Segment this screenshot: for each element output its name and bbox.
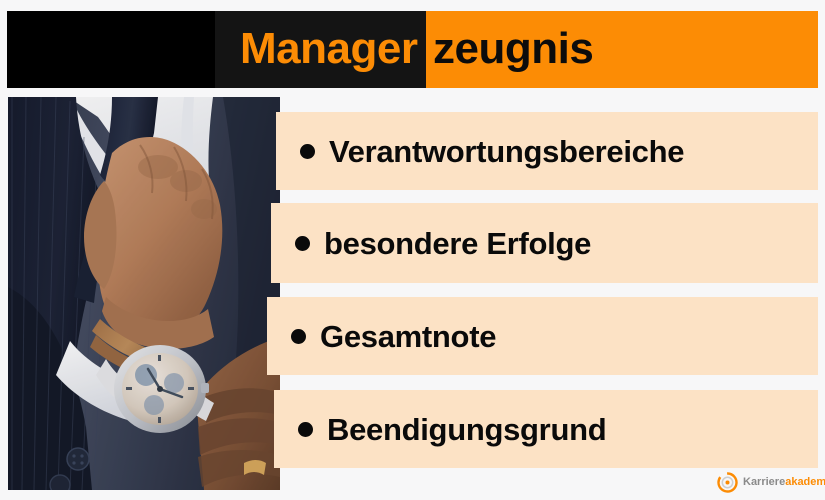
bullet-item-4-label: Beendigungsgrund [327,414,606,445]
slide-canvas: Manager zeugnis [0,0,825,500]
page-title: Manager zeugnis [7,11,818,88]
bullet-item-4[interactable]: Beendigungsgrund [274,390,818,468]
bullet-item-2-label: besondere Erfolge [324,228,591,259]
brand-name-part-1: Karriere [743,476,785,488]
brand-name-part-2: akademie [785,476,825,488]
bullet-item-2[interactable]: besondere Erfolge [271,203,818,283]
karriereakademie-circle-icon [717,472,738,493]
bullet-dot-icon [291,329,306,344]
bullet-item-1[interactable]: Verantwortungsbereiche [276,112,818,190]
bullet-dot-icon [298,422,313,437]
page-title-part-2: zeugnis [433,27,593,71]
bullet-item-1-label: Verantwortungsbereiche [329,136,684,167]
bullet-item-3-label: Gesamtnote [320,321,496,352]
header-banner: Manager zeugnis [7,11,818,88]
page-title-part-1: Manager [240,27,417,71]
brand-logo[interactable]: Karriereakademie.de [717,469,825,495]
brand-logo-text: Karriereakademie.de [743,477,825,488]
bullet-dot-icon [295,236,310,251]
bullet-dot-icon [300,144,315,159]
bullet-item-3[interactable]: Gesamtnote [267,297,818,375]
hero-photo [8,97,280,490]
